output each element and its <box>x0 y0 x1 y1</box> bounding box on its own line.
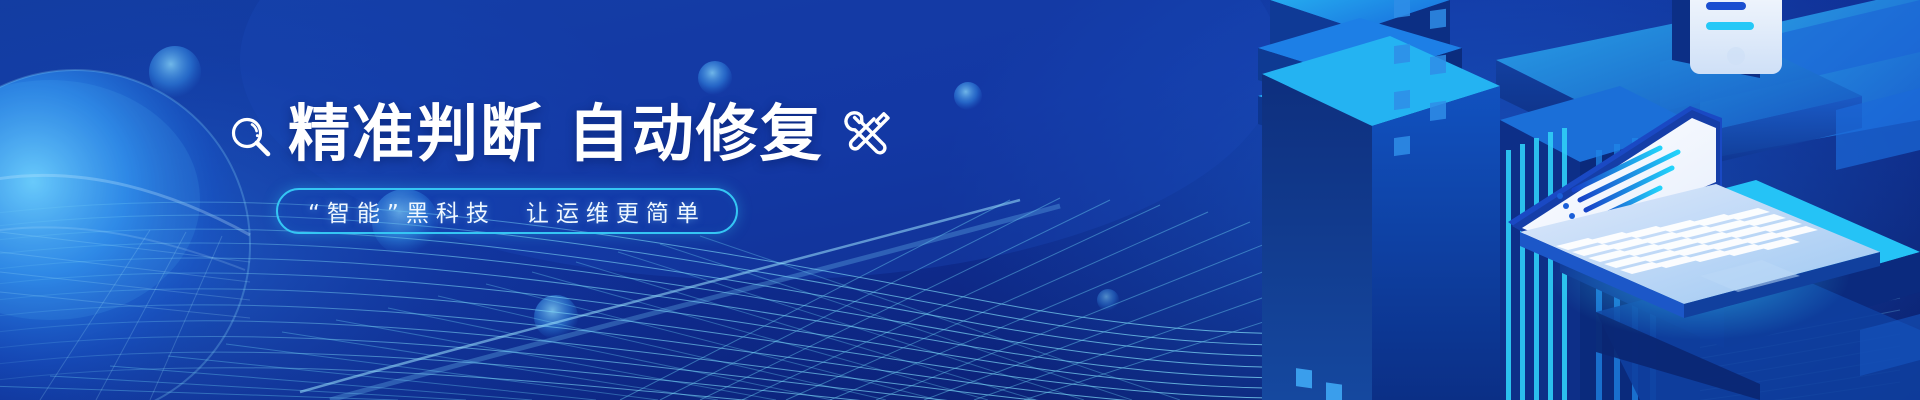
page-title: 精准判断 自动修复 <box>288 103 824 165</box>
magnifier-icon <box>228 114 274 160</box>
banner-text-block: 精准判断 自动修复 “智能”黑科技 让运维更简单 <box>228 96 1008 266</box>
subtitle-pill: “智能”黑科技 让运维更简单 <box>276 188 738 234</box>
subtitle-text: “智能”黑科技 让运维更简单 <box>308 194 706 228</box>
hero-banner: 精准判断 自动修复 “智能”黑科技 让运维更简单 <box>0 0 1920 400</box>
headline-row: 精准判断 自动修复 <box>228 96 1008 172</box>
wrench-screwdriver-icon <box>844 108 898 162</box>
